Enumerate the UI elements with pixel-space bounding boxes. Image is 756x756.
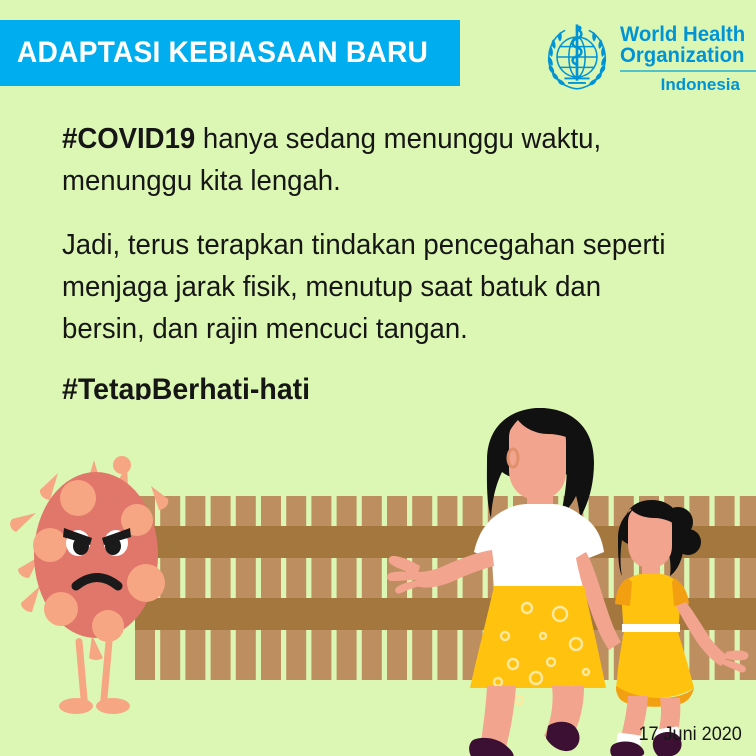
illustration-scene xyxy=(0,400,756,756)
who-line-2: Organization xyxy=(620,45,744,66)
child-hair-bun-lower xyxy=(675,529,701,555)
page-title: ADAPTASI KEBIASAAN BARU xyxy=(0,36,428,70)
header-banner: ADAPTASI KEBIASAAN BARU xyxy=(0,20,460,86)
date-stamp: 17 Juni 2020 xyxy=(639,724,742,746)
who-country-label: Indonesia xyxy=(661,76,756,93)
who-divider xyxy=(620,70,756,72)
who-emblem-icon xyxy=(540,20,614,94)
covid-hashtag: #COVID19 xyxy=(62,123,195,155)
body-copy: #COVID19 hanya sedang menunggu waktu, me… xyxy=(62,118,712,408)
child-belt xyxy=(622,624,680,632)
poster-canvas: ADAPTASI KEBIASAAN BARU xyxy=(0,0,756,756)
who-line-1: World Health xyxy=(620,24,745,45)
who-wordmark: World Health Organization Indonesia xyxy=(620,20,756,93)
paragraph-1: #COVID19 hanya sedang menunggu waktu, me… xyxy=(62,118,680,202)
paragraph-2: Jadi, terus terapkan tindakan pencegahan… xyxy=(62,224,680,350)
who-logo: World Health Organization Indonesia xyxy=(540,20,746,100)
